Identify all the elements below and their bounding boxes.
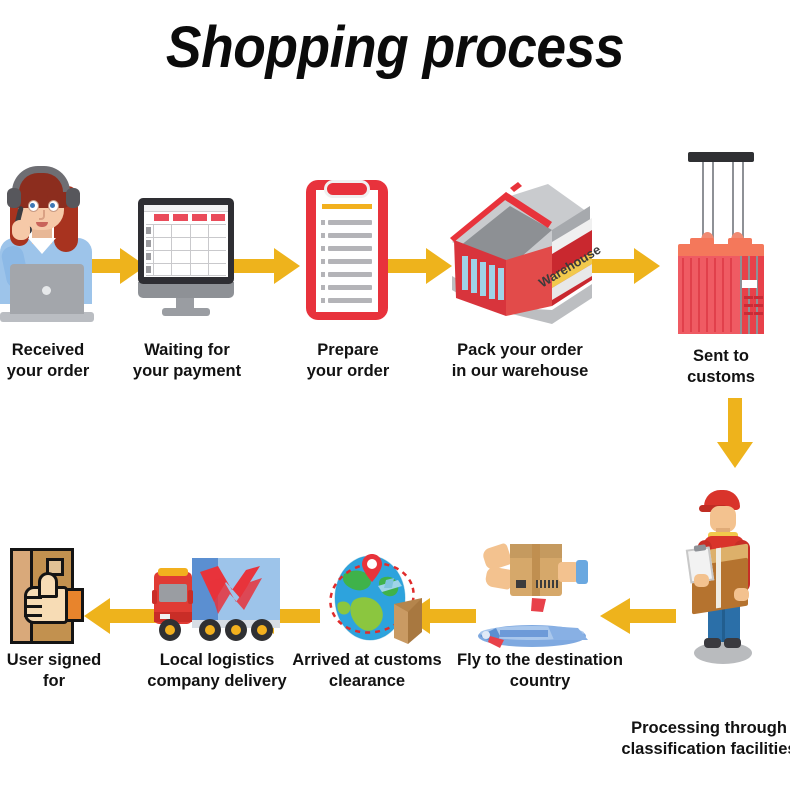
shipping-container-crane-icon — [666, 152, 776, 336]
delivery-truck-icon — [148, 556, 282, 650]
step-received-your-order — [0, 172, 96, 324]
step-fly-to-destination-country — [470, 540, 600, 656]
door-hand-signature-icon — [6, 544, 92, 652]
step-sent-to-customs — [666, 152, 776, 336]
delivery-courier-icon — [672, 490, 774, 670]
computer-monitor-icon — [132, 196, 242, 322]
step-local-logistics-company-delivery — [148, 556, 282, 650]
step-label-prepare-your-order: Prepare your order — [278, 340, 418, 382]
clipboard-checklist-icon — [302, 178, 394, 324]
step-label-processing-through-classification: Processing through classification facili… — [620, 718, 790, 760]
step-label-user-signed-for: User signed for — [0, 650, 124, 692]
step-label-sent-to-customs: Sent to customs — [656, 346, 786, 388]
step-waiting-for-your-payment — [132, 196, 242, 322]
infographic-canvas: Shopping process — [0, 0, 790, 790]
step-label-pack-your-order: Pack your order in our warehouse — [430, 340, 610, 382]
airplane-icon — [470, 592, 600, 652]
step-label-received-your-order: Received your order — [0, 340, 118, 382]
step-pack-your-order: Warehouse — [440, 180, 604, 324]
customer-service-agent-icon — [0, 172, 96, 324]
arrow-step9-to-step10 — [84, 598, 156, 634]
arrow-step6-to-step7 — [600, 598, 676, 634]
step-label-waiting-for-your-payment: Waiting for your payment — [112, 340, 262, 382]
globe-parcel-icon — [320, 540, 430, 650]
step-user-signed-for — [6, 544, 92, 652]
page-title: Shopping process — [32, 14, 759, 81]
step-label-local-logistics-company-delivery: Local logistics company delivery — [122, 650, 312, 692]
warehouse-building-icon: Warehouse — [440, 180, 604, 324]
step-arrived-at-customs-clearance — [320, 540, 430, 650]
step-label-fly-to-destination-country: Fly to the destination country — [440, 650, 640, 692]
airplane-parcel-icon — [470, 540, 600, 656]
step-processing-through-classification — [672, 490, 774, 670]
step-prepare-your-order — [302, 178, 394, 324]
arrow-step5-to-step6 — [717, 398, 753, 468]
